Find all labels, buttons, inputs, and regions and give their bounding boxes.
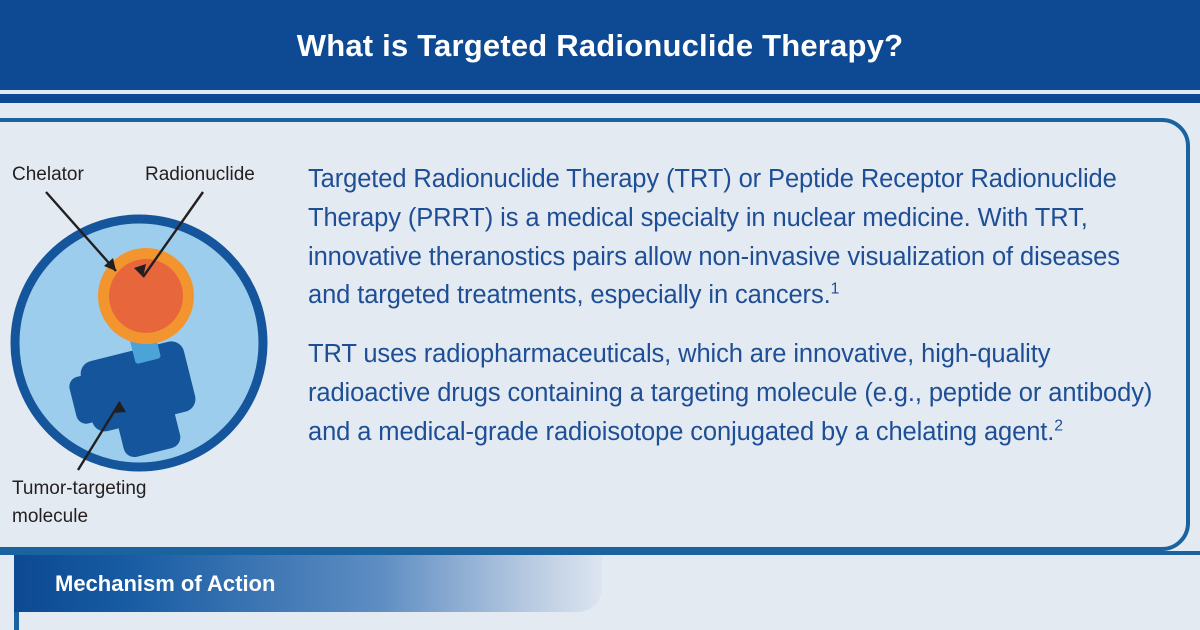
body-copy: Targeted Radionuclide Therapy (TRT) or P… bbox=[308, 160, 1168, 451]
paragraph-1: Targeted Radionuclide Therapy (TRT) or P… bbox=[308, 160, 1168, 315]
paragraph-2-text: TRT uses radiopharmaceuticals, which are… bbox=[308, 340, 1152, 446]
paragraph-1-citation: 1 bbox=[831, 281, 840, 298]
page-header: What is Targeted Radionuclide Therapy? bbox=[0, 0, 1200, 90]
page-title: What is Targeted Radionuclide Therapy? bbox=[297, 30, 903, 61]
radionuclide-core-shape bbox=[109, 259, 183, 333]
mechanism-left-accent-lower bbox=[14, 612, 19, 630]
radionuclide-label: Radionuclide bbox=[145, 164, 255, 185]
molecule-diagram: Chelator Radionuclide Tumor-targeting mo… bbox=[0, 150, 292, 540]
paragraph-1-text: Targeted Radionuclide Therapy (TRT) or P… bbox=[308, 165, 1120, 309]
mechanism-of-action-band: Mechanism of Action bbox=[19, 555, 602, 612]
mechanism-of-action-label: Mechanism of Action bbox=[19, 573, 275, 595]
header-accent-bar bbox=[0, 94, 1200, 103]
tumor-targeting-label-line1: Tumor-targeting bbox=[12, 478, 146, 499]
paragraph-2: TRT uses radiopharmaceuticals, which are… bbox=[308, 335, 1168, 451]
tumor-targeting-label-line2: molecule bbox=[12, 506, 88, 527]
chelator-label: Chelator bbox=[12, 164, 84, 185]
paragraph-2-citation: 2 bbox=[1054, 417, 1063, 434]
